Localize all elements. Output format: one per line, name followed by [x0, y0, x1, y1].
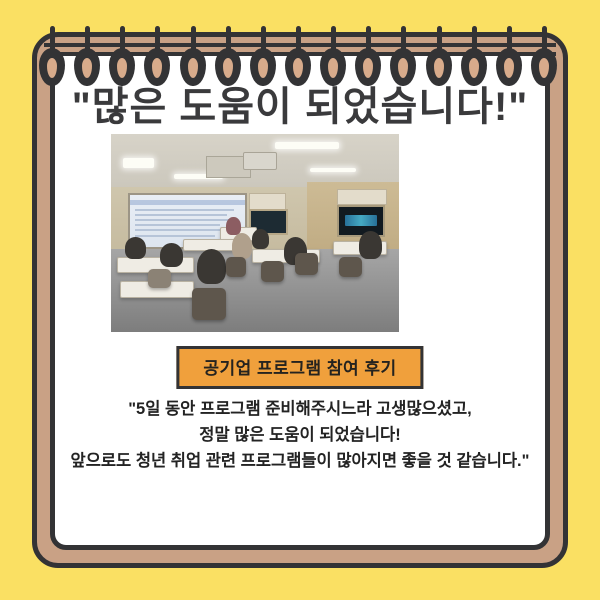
photo-window-blind — [337, 189, 388, 205]
photo-ceiling-light — [275, 142, 338, 149]
photo-chair — [226, 257, 246, 277]
review-quote-line: 앞으로도 청년 취업 관련 프로그램들이 많아지면 좋을 것 같습니다." — [0, 448, 600, 474]
status-badge: 공기업 프로그램 참여 후기 — [176, 346, 423, 389]
photo-chair — [295, 253, 318, 275]
photo-screen-row — [135, 214, 227, 216]
photo-projector — [243, 152, 277, 170]
photo-chair — [148, 269, 171, 289]
review-quote-line: "5일 동안 프로그램 준비해주시느라 고생많으셨고, — [0, 396, 600, 422]
photo-chair — [192, 288, 227, 320]
photo-chair — [261, 261, 284, 283]
photo-participant — [197, 249, 226, 285]
photo-screen-row — [135, 219, 236, 221]
review-quote-line: 정말 많은 도움이 되었습니다! — [0, 422, 600, 448]
photo-screen-row — [135, 224, 220, 226]
page-title: "많은 도움이 되었습니다!" — [0, 74, 600, 132]
photo-participant — [125, 237, 145, 259]
photo-screen-row — [135, 229, 232, 231]
photo-participant — [160, 243, 183, 267]
photo-chair — [339, 257, 362, 277]
photo-screen-row — [135, 209, 234, 211]
program-photo — [111, 134, 399, 332]
photo-screen-row — [135, 235, 216, 237]
photo-participant — [359, 231, 382, 259]
review-quote: "5일 동안 프로그램 준비해주시느라 고생많으셨고,정말 많은 도움이 되었습… — [0, 396, 600, 474]
spiral-binding-bar — [44, 43, 556, 56]
photo-ceiling-light — [123, 158, 155, 168]
photo-scene — [111, 134, 399, 332]
photo-monitor — [337, 205, 384, 237]
photo-screen-header — [130, 200, 245, 205]
photo-participant — [252, 229, 269, 249]
photo-participant — [232, 233, 252, 259]
review-card: "많은 도움이 되었습니다!" — [0, 0, 600, 600]
photo-monitor-glow — [345, 215, 378, 226]
photo-ceiling-light — [310, 168, 356, 173]
photo-instructor — [226, 217, 240, 235]
